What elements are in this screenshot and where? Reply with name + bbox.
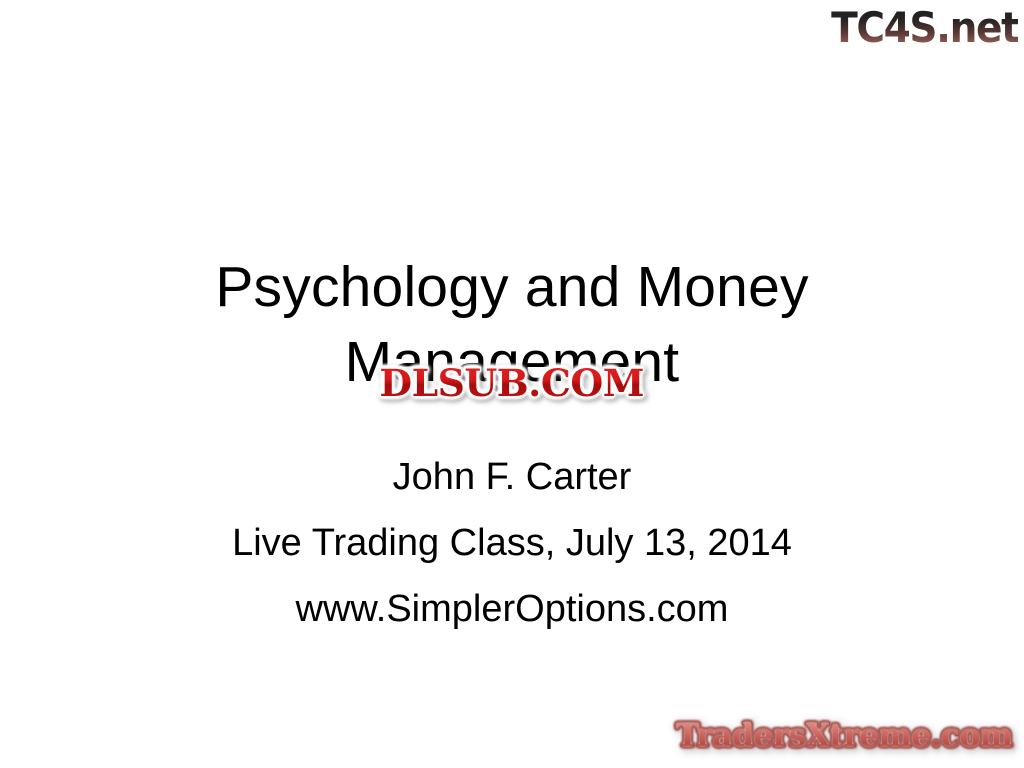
tradersxtreme-watermark-logo: TradersXtreme.com [669,714,1012,756]
dlsub-watermark-logo: DLSUB.COM [366,360,658,406]
tradersxtreme-watermark-text: TradersXtreme.com [675,717,1012,753]
slide-subtitle-event: Live Trading Class, July 13, 2014 [0,510,1024,576]
slide-subtitle: John F. Carter Live Trading Class, July … [0,444,1024,642]
tc4s-watermark-text: TC4S.net [831,6,1018,50]
slide-subtitle-website: www.SimplerOptions.com [0,576,1024,642]
tc4s-watermark-logo: TC4S.net [817,2,1018,54]
slide-title-line-1: Psychology and Money [0,250,1024,325]
presentation-slide: TC4S.net Psychology and Money Management… [0,0,1024,768]
slide-subtitle-presenter: John F. Carter [0,444,1024,510]
dlsub-watermark-text: DLSUB.COM [380,363,645,403]
